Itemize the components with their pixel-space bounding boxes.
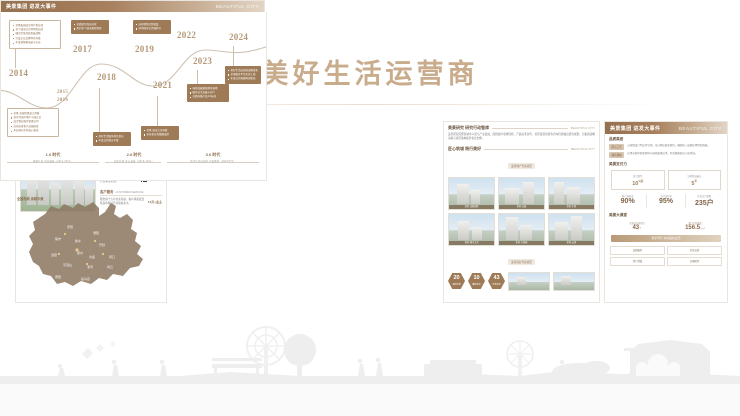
timeline-year-2021[interactable]: 2021 (153, 80, 172, 90)
province-map: 全国布局 深耕中原 安阳濮阳 焦作新乡 开封郑州 洛阳许昌 周口平顶山 漯河南阳… (15, 196, 165, 301)
era-block: 1.0 时代 规模扩张·夯实基础（2014-2017） (13, 152, 93, 163)
project-photo[interactable]: 美景·东望 (548, 177, 595, 210)
svg-text:洛阳: 洛阳 (51, 252, 57, 257)
quality-row: 匠心工艺 从规划设计到交付呈现，全过程标准化管控，确保每一处细节经得起推敲。 (605, 143, 727, 151)
timeline-card-2024[interactable]: 美好生活运营商战略发布 全域服务平台正式上线 年度交付规模再创新高 (225, 66, 261, 84)
stat-badge: 20 深耕年限 (448, 273, 465, 290)
panel-right-badge: BEAUTIFUL CITY (679, 126, 722, 131)
card-item: 美景·龙城项目盛大开盘 (11, 112, 56, 116)
photo-caption: 美景·东望 (549, 205, 594, 209)
scale-item: 累计开发建面 156.5万㎡ (668, 221, 722, 231)
svg-text:平顶山: 平顶山 (63, 262, 72, 267)
badge-label: 开发项目 (492, 283, 500, 286)
scale-section-title: 美景大课堂 (605, 210, 727, 219)
benefit-cell: 社区运营 (667, 246, 722, 255)
photo-caption: 美景·城市之光 (449, 241, 494, 245)
call-to-action-ribbon: 携手同行 共创美好生活 (611, 235, 721, 242)
pay-box-row: 首付低至 10%起 分期免息最长 5年 (605, 168, 727, 192)
card-item: 全域服务平台正式上线 (228, 73, 259, 77)
timeline-year-2017[interactable]: 2017 (73, 44, 92, 54)
card-item: 年度交付规模再创新高 (228, 77, 259, 81)
pay-box: 分期免息最长 5年 (668, 170, 722, 190)
city-silhouette (0, 324, 740, 384)
photo-band-bottom-label: 美景商业代表项目 (508, 259, 535, 265)
timeline-stem (157, 96, 158, 126)
benefit-grid: 品质服务 社区运营 资产增值 长期陪伴 (605, 244, 727, 268)
project-photo-grid: 美景·龙城国际 美景·天城 美景·东望 美景·城市之光 美景·万科城 美景·云顶 (444, 174, 599, 249)
badge-label: 深耕年限 (452, 283, 460, 286)
project-photo[interactable]: 美景·云顶 (548, 213, 595, 246)
card-item: 服务业主突破十万户 (190, 91, 227, 95)
era-name: 2.0 时代 (127, 152, 142, 157)
scale-unit: 万㎡ (700, 227, 705, 230)
timeline-stem (99, 88, 100, 132)
scale-item: 在建及开发项目 43个 (610, 221, 664, 231)
map-shape: 安阳濮阳 焦作新乡 开封郑州 洛阳许昌 周口平顶山 漯河南阳 驻马店商丘 (15, 196, 165, 296)
card-item: 首个城市综合体项目启动 (13, 28, 58, 32)
svg-text:安阳: 安阳 (67, 224, 73, 229)
timeline-card-2018[interactable]: 美好生活服务体系发布 年度交付超五千套 (93, 132, 131, 146)
card-item: 获中国房企百强称号 (136, 27, 169, 31)
stat-value: 90% (609, 198, 646, 205)
card-item: 年度销售额突破十亿元 (13, 41, 58, 45)
pay-box-title: 分期免息最长 (670, 174, 720, 178)
project-photo[interactable]: 美景·城市之光 (448, 213, 495, 246)
svg-text:新乡: 新乡 (75, 238, 81, 243)
card-item: 美好生活运营商战略发布 (228, 69, 259, 73)
photo-caption: 美景·万科城 (499, 241, 544, 245)
timeline-card-2016[interactable]: 美景·龙城项目盛大开盘 获评河南房地产十强企业 成立物业服务管理公司 启动标准化… (7, 108, 59, 137)
photo-caption: 美景·云顶 (549, 241, 594, 245)
quality-tag: 匠心工艺 (609, 144, 624, 150)
timeline-stem (197, 70, 198, 84)
panel-timeline-header: 美景集团 进发大事件 BEAUTIFUL CITY (0, 0, 265, 12)
badge-value: 43 (493, 276, 499, 282)
panel-right-header: 美景集团 进发大事件 BEAUTIFUL CITY (605, 122, 727, 134)
timeline-year-2024[interactable]: 2024 (229, 32, 248, 42)
card-item: 确立区域深耕发展战略 (13, 32, 58, 36)
photo-band-top-label: 美景地产代表项目 (508, 163, 535, 169)
panel-right-title: 美景集团 进发大事件 (610, 125, 660, 132)
photo-caption: 美景·天城 (499, 205, 544, 209)
badge-value: 20 (453, 276, 459, 282)
card-item: 全面升级产品4.0标准 (190, 95, 227, 99)
era-name: 1.0 时代 (46, 152, 61, 157)
svg-text:南阳: 南阳 (55, 274, 61, 279)
header-rule (484, 149, 568, 150)
card-item: 启动智慧社区建设 (136, 23, 169, 27)
map-title: 全国布局 深耕中原 (17, 196, 43, 201)
scale-row: 在建及开发项目 43个 累计开发建面 156.5万㎡ (605, 219, 727, 233)
stat-value: 95% (647, 198, 684, 205)
card-item: 获评河南房地产十强企业 (11, 116, 56, 120)
svg-text:濮阳: 濮阳 (93, 230, 99, 235)
stat-value: 235户 (686, 198, 723, 208)
research-paragraph: 美景研究院聚焦城市人居与产业发展，围绕客户需求洞察、产品标准迭代、社区运营创新等… (444, 131, 599, 143)
pay-section-title: 美景支付力 (605, 159, 727, 168)
panel-timeline-badge: BEAUTIFUL CITY (216, 4, 259, 9)
badge-label: 覆盖城市 (472, 283, 480, 286)
timeline-card-2014[interactable]: 美景集团成立地产事业部 首个城市综合体项目启动 确立区域深耕发展战略 完成企业品… (9, 20, 61, 49)
craft-header: 匠心筑城 践行美好 BEAUTIFUL CITY (444, 143, 599, 152)
stat-badge: 10 覆盖城市 (468, 273, 485, 290)
card-item: 启动标准化产品线研发 (11, 125, 56, 129)
timeline-year-2015[interactable]: 2015 (57, 90, 68, 96)
era-sub: 美好生活运营商·全面焕新（2022至今） (171, 159, 255, 163)
timeline-card-2019[interactable]: 启动智慧社区建设 获中国房企百强称号 (133, 20, 171, 34)
card-item: 美好生活服务体系发布 (96, 135, 129, 139)
quality-tag: 绿色科技 (609, 152, 624, 158)
stat-item: 交付及时率 95% (647, 194, 685, 208)
quality-text: 应用节能环保新材料与绿色建筑技术，打造健康舒适人居环境。 (627, 152, 723, 156)
stats-row: 客户满意度 90% 交付及时率 95% 年度交付套数 235户 (605, 192, 727, 210)
quality-section-title: 品质美居 (605, 134, 727, 143)
craft-title: 匠心筑城 践行美好 (448, 146, 481, 152)
card-item: 美景集团成立地产事业部 (13, 24, 58, 28)
benefit-cell: 资产增值 (610, 257, 665, 266)
era-name: 3.0 时代 (206, 152, 221, 157)
card-item: 绿色低碳建筑体系落地 (190, 87, 227, 91)
stat-item: 客户满意度 90% (609, 194, 647, 208)
card-item: 年度交付超五千套 (96, 139, 129, 143)
footer-band (0, 384, 740, 416)
era-sub: 品质升级·多元发展（2018-2021） (105, 159, 163, 163)
benefit-cell: 长期陪伴 (667, 257, 722, 266)
card-item: 美景·城市之光开盘 (144, 129, 177, 133)
timeline-year-2022[interactable]: 2022 (177, 30, 196, 40)
project-photo-thumb[interactable] (508, 272, 550, 291)
panel-quality: 美景集团 进发大事件 BEAUTIFUL CITY 品质美居 匠心工艺 从规划设… (604, 121, 728, 303)
metric-title: 客户服务 (100, 189, 114, 194)
era-sub: 规模扩张·夯实基础（2014-2017） (13, 159, 93, 163)
timeline-year-2023[interactable]: 2023 (193, 56, 212, 66)
research-title: 美景研究 研究行动智库 (448, 125, 489, 131)
pay-box-unit: 年 (694, 180, 697, 183)
metric-subtitle: CUSTOMER SERVICE (116, 191, 144, 194)
card-item: 多元化业务版图成型 (144, 133, 177, 137)
badge-value: 10 (473, 276, 479, 282)
project-photo[interactable]: 美景·龙城国际 (448, 177, 495, 210)
svg-text:商丘: 商丘 (107, 264, 113, 269)
panel-timeline: 美景集团 进发大事件 BEAUTIFUL CITY 1.0 时代 规模扩张·夯实… (0, 0, 265, 180)
timeline-year-2014[interactable]: 2014 (9, 68, 28, 78)
project-photo[interactable]: 美景·天城 (498, 177, 545, 210)
scale-unit: 个 (639, 227, 641, 230)
timeline-card-2017[interactable]: 全面进军商业运营 签约多个城市更新项目 (71, 20, 109, 34)
svg-text:许昌: 许昌 (89, 254, 95, 259)
card-item: 完成企业品牌体系升级 (13, 37, 58, 41)
photo-caption: 美景·龙城国际 (449, 205, 494, 209)
timeline-year-2016[interactable]: 2016 (57, 98, 68, 104)
project-photo-thumb[interactable] (553, 272, 595, 291)
svg-text:驻马店: 驻马店 (81, 276, 90, 281)
scale-value: 156.5 (685, 225, 700, 231)
timeline-card-2021[interactable]: 美景·城市之光开盘 多元化业务版图成型 (141, 126, 179, 140)
panel-timeline-title: 美景集团 进发大事件 (6, 3, 56, 10)
stat-badge-row: 20 深耕年限 10 覆盖城市 43 开发项目 (444, 270, 599, 293)
research-badge: BEAUTIFUL CITY (571, 126, 595, 130)
svg-text:周口: 周口 (109, 254, 115, 259)
card-item: 成立物业服务管理公司 (11, 120, 56, 124)
timeline-card-2023[interactable]: 绿色低碳建筑体系落地 服务业主突破十万户 全面升级产品4.0标准 (187, 84, 229, 102)
quality-row: 绿色科技 应用节能环保新材料与绿色建筑技术，打造健康舒适人居环境。 (605, 151, 727, 159)
stat-item: 年度交付套数 235户 (686, 194, 723, 208)
panel-research: 美景研究 研究行动智库 BEAUTIFUL CITY 美景研究院聚焦城市人居与产… (443, 121, 600, 303)
quality-text: 从规划设计到交付呈现，全过程标准化管控，确保每一处细节经得起推敲。 (627, 144, 723, 148)
timeline-year-2019[interactable]: 2019 (135, 44, 154, 54)
stat-badge: 43 开发项目 (488, 273, 505, 290)
pay-box: 首付低至 10%起 (611, 170, 665, 190)
research-header: 美景研究 研究行动智库 BEAUTIFUL CITY (444, 122, 599, 131)
timeline-stem (233, 46, 234, 66)
era-block: 2.0 时代 品质升级·多元发展（2018-2021） (105, 152, 163, 163)
card-item: 全面进军商业运营 (74, 23, 107, 27)
era-block: 3.0 时代 美好生活运营商·全面焕新（2022至今） (171, 152, 255, 163)
pay-box-unit: %起 (638, 180, 643, 183)
card-item: 布局郑州东区核心板块 (11, 129, 56, 133)
timeline-stem (15, 46, 16, 68)
benefit-cell: 品质服务 (610, 246, 665, 255)
svg-text:漯河: 漯河 (87, 264, 93, 269)
project-photo[interactable]: 美景·万科城 (498, 213, 545, 246)
timeline-year-2018[interactable]: 2018 (97, 72, 116, 82)
svg-text:开封: 开封 (99, 242, 105, 247)
timeline-canvas: 1.0 时代 规模扩张·夯实基础（2014-2017） 2.0 时代 品质升级·… (0, 12, 267, 181)
craft-badge: BEAUTIFUL CITY (571, 147, 595, 151)
card-item: 签约多个城市更新项目 (74, 27, 107, 31)
pay-box-title: 首付低至 (613, 174, 663, 178)
svg-text:焦作: 焦作 (55, 236, 61, 241)
header-rule (492, 128, 568, 129)
